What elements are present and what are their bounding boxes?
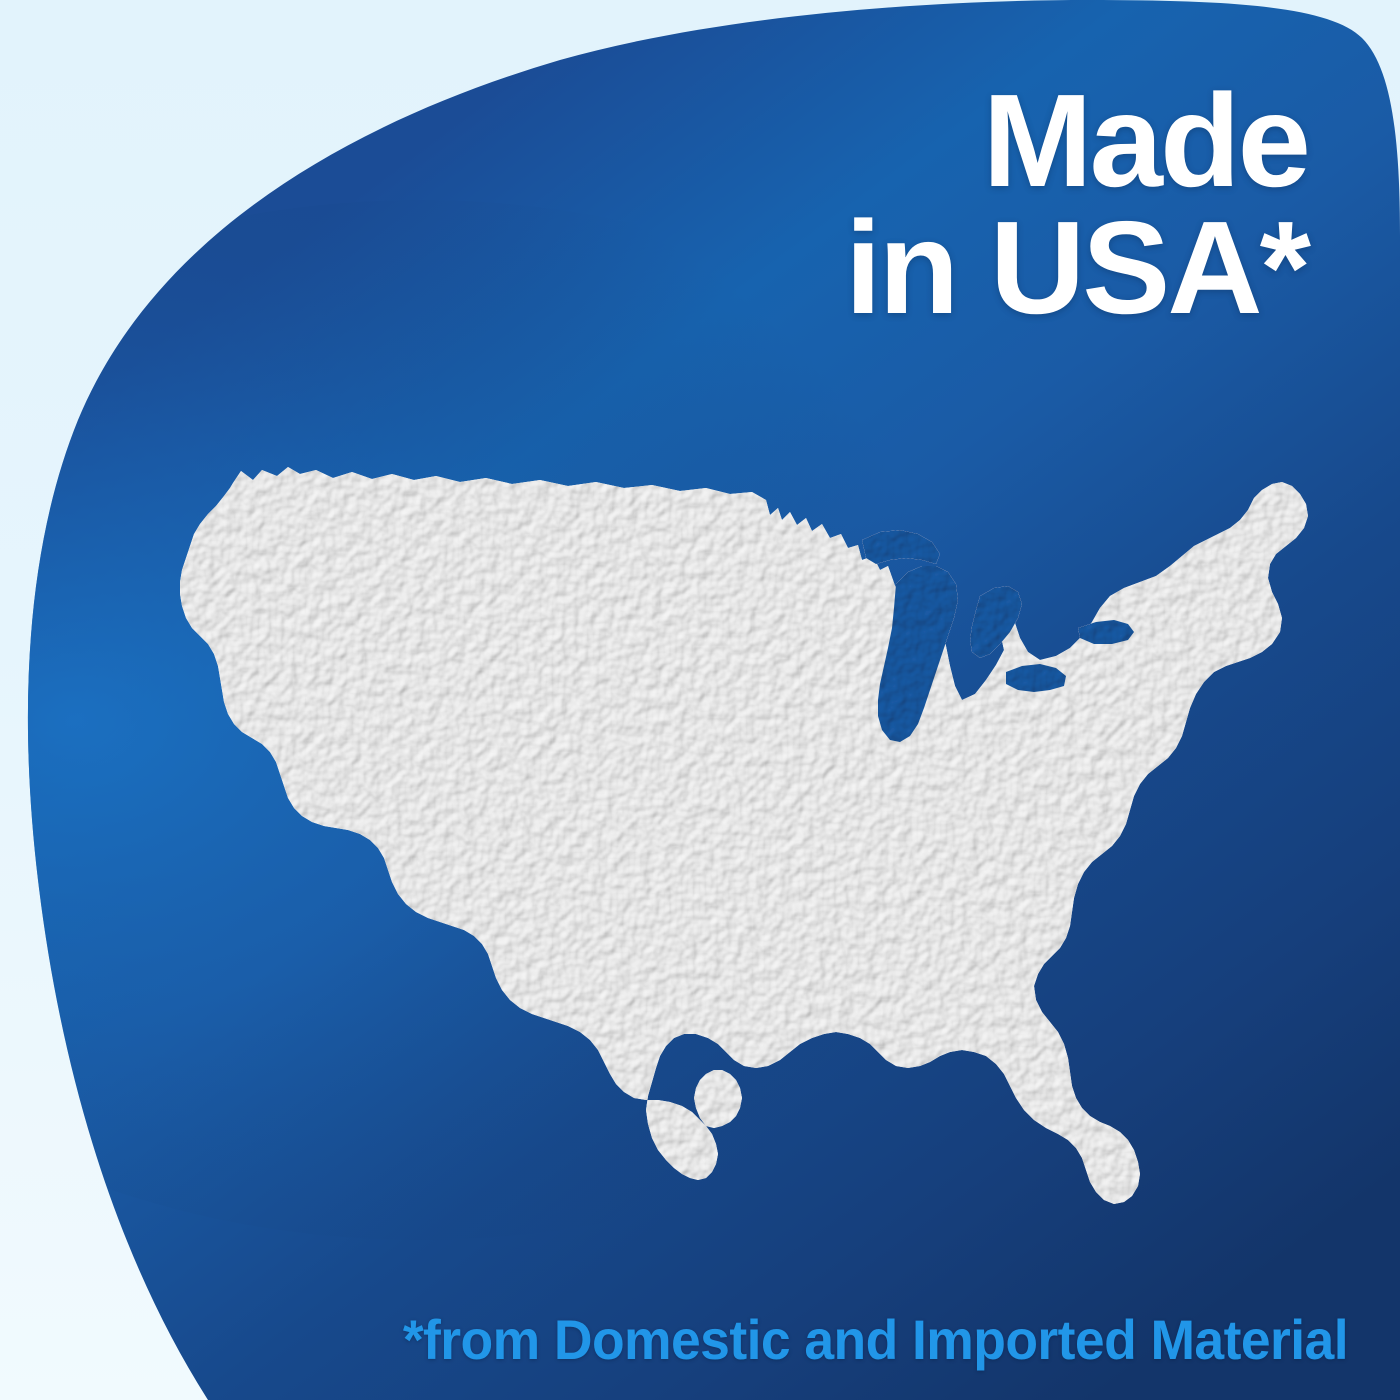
headline-line-1: Made bbox=[845, 78, 1308, 205]
footnote-text: *from Domestic and Imported Material bbox=[61, 1307, 1348, 1372]
headline: Made in USA* bbox=[845, 78, 1308, 331]
made-in-usa-graphic: Made in USA* *from Domestic and Imported… bbox=[0, 0, 1400, 1400]
headline-line-2: in USA* bbox=[845, 205, 1308, 332]
